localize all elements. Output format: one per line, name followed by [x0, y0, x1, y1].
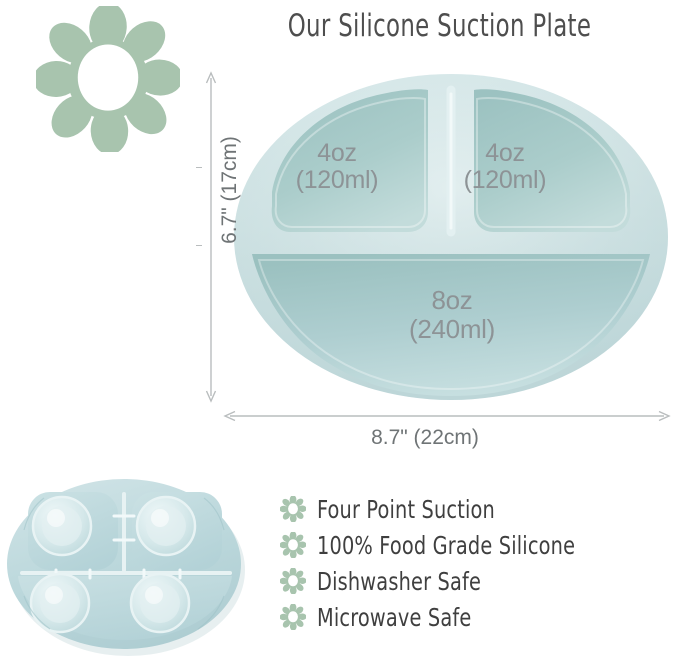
height-tick-upper	[196, 167, 202, 168]
feature-item-four-point-suction: Four Point Suction	[280, 492, 672, 526]
feature-list: Four Point Suction	[280, 492, 672, 636]
suction-plate-bottom-view	[4, 470, 248, 656]
width-dimension-label: 8.7" (22cm)	[295, 426, 555, 450]
height-tick-lower	[196, 245, 202, 246]
suction-plate-top-view	[232, 72, 670, 402]
page-title: Our Silicone Suction Plate	[243, 8, 636, 44]
daisy-flower-icon	[280, 604, 306, 630]
daisy-flower-icon	[280, 532, 306, 558]
feature-label: 100% Food Grade Silicone	[317, 531, 575, 560]
daisy-flower-icon	[280, 568, 306, 594]
feature-label: Four Point Suction	[317, 495, 495, 524]
daisy-flower-icon	[36, 6, 180, 152]
feature-item-dishwasher-safe: Dishwasher Safe	[280, 564, 672, 598]
feature-label: Dishwasher Safe	[317, 567, 481, 596]
daisy-flower-icon	[280, 496, 306, 522]
feature-item-microwave-safe: Microwave Safe	[280, 600, 672, 634]
height-dimension-arrow-icon	[204, 70, 218, 404]
width-dimension-arrow-icon	[222, 409, 672, 423]
height-dimension-label: 6.7" (17cm)	[218, 105, 242, 275]
feature-item-food-grade-silicone: 100% Food Grade Silicone	[280, 528, 672, 562]
product-infographic: Our Silicone Suction Plate	[0, 0, 679, 666]
feature-label: Microwave Safe	[317, 603, 471, 632]
